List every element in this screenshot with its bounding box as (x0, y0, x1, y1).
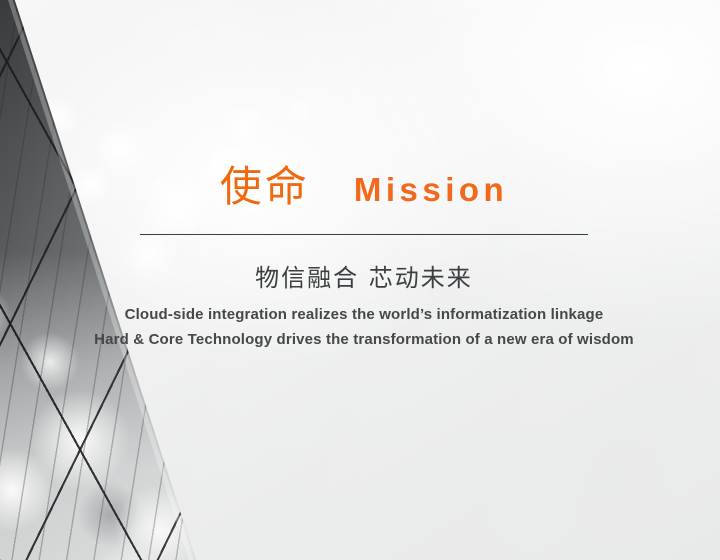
tagline-line-2: Hard & Core Technology drives the transf… (64, 327, 664, 352)
banner-content: 使命 Mission 物信融合 芯动未来 Cloud-side integrat… (0, 0, 720, 560)
headline-english: Mission (354, 173, 508, 206)
tagline-line-1: Cloud-side integration realizes the worl… (64, 302, 664, 327)
headline-chinese: 使命 (220, 166, 310, 208)
headline: 使命 Mission (140, 166, 588, 208)
tagline-block: Cloud-side integration realizes the worl… (64, 302, 664, 352)
headline-divider (140, 234, 588, 235)
mission-banner: 使命 Mission 物信融合 芯动未来 Cloud-side integrat… (0, 0, 720, 560)
subtitle-chinese: 物信融合 芯动未来 (140, 258, 588, 293)
